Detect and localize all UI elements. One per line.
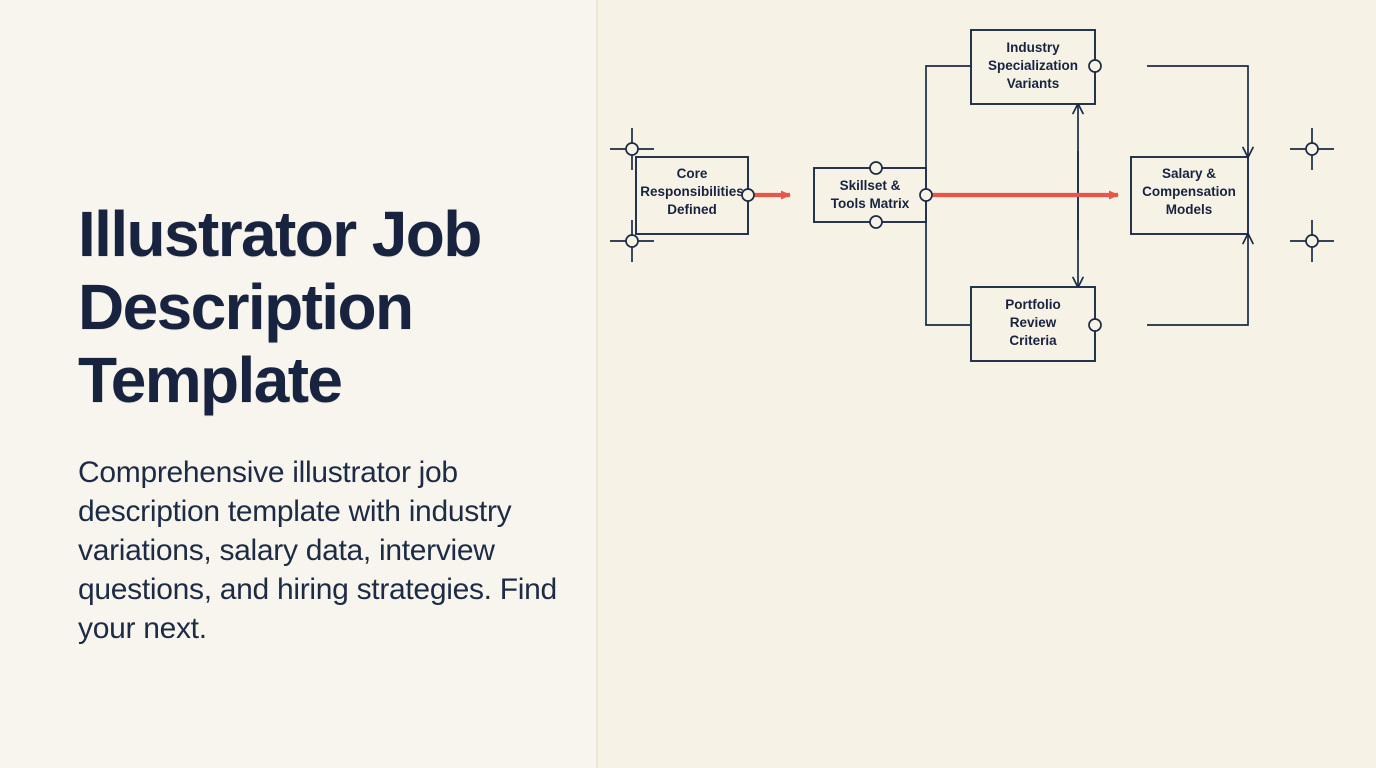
edge-industry-to-salary — [1147, 66, 1248, 157]
node-core-line-3: Defined — [667, 202, 717, 217]
node-salary-line-2: Compensation — [1142, 184, 1236, 199]
node-core-line-2: Responsibilities — [640, 184, 744, 199]
corner-marker-bottom-right — [1290, 220, 1334, 262]
node-salary-line-1: Salary & — [1162, 166, 1216, 181]
node-core-line-1: Core — [677, 166, 708, 181]
node-industry-specialization[interactable]: Industry Specialization Variants — [971, 30, 1101, 104]
node-skillset-line-2: Tools Matrix — [831, 196, 910, 211]
node-portfolio-line-1: Portfolio — [1005, 297, 1061, 312]
page-title: Illustrator Job Description Template — [78, 198, 578, 417]
port-portfolio-right[interactable] — [1089, 319, 1101, 331]
node-salary-line-3: Models — [1166, 202, 1213, 217]
text-block: Illustrator Job Description Template Com… — [78, 198, 578, 648]
node-industry-line-1: Industry — [1006, 40, 1060, 55]
node-salary-compensation[interactable]: Salary & Compensation Models — [1131, 157, 1248, 234]
node-industry-line-3: Variants — [1007, 76, 1060, 91]
port-skillset-right[interactable] — [920, 189, 932, 201]
node-portfolio-review-criteria[interactable]: Portfolio Review Criteria — [971, 287, 1101, 361]
left-panel: Illustrator Job Description Template Com… — [0, 0, 598, 768]
node-skillset-line-1: Skillset & — [840, 178, 901, 193]
corner-marker-top-right — [1290, 128, 1334, 170]
port-industry-right[interactable] — [1089, 60, 1101, 72]
slide-root: Illustrator Job Description Template Com… — [0, 0, 1376, 768]
node-core-responsibilities[interactable]: Core Responsibilities Defined — [636, 157, 754, 234]
node-portfolio-line-2: Review — [1010, 315, 1057, 330]
edge-portfolio-to-salary — [1147, 234, 1248, 325]
port-core-right[interactable] — [742, 189, 754, 201]
node-industry-line-2: Specialization — [988, 58, 1078, 73]
port-skillset-bottom[interactable] — [870, 216, 882, 228]
node-skillset-tools-matrix[interactable]: Skillset & Tools Matrix — [814, 162, 932, 228]
page-subtitle: Comprehensive illustrator job descriptio… — [78, 417, 578, 648]
flow-diagram: Core Responsibilities Defined Skillset &… — [598, 0, 1376, 768]
port-skillset-top[interactable] — [870, 162, 882, 174]
right-panel: Core Responsibilities Defined Skillset &… — [598, 0, 1376, 768]
node-portfolio-line-3: Criteria — [1009, 333, 1057, 348]
